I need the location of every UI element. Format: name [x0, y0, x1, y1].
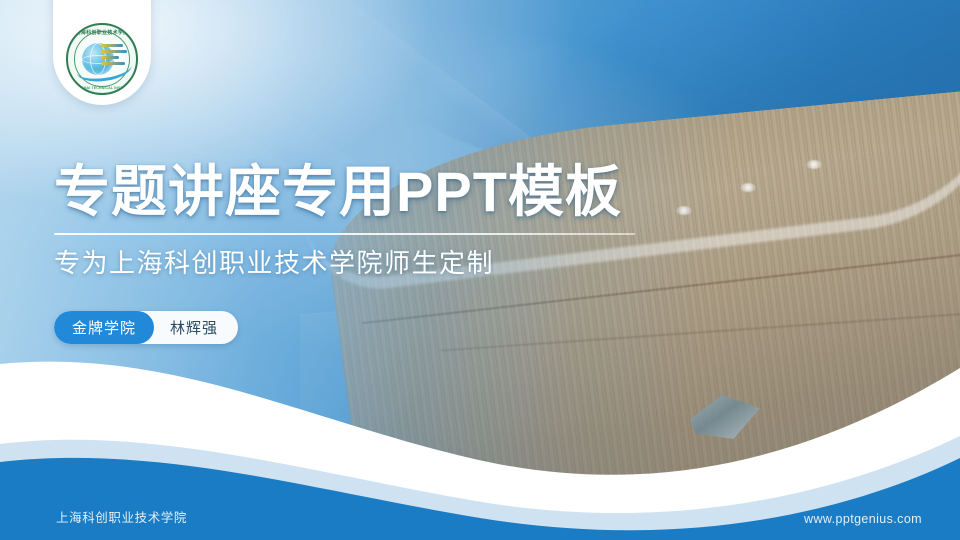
emblem-bottom-text: SHANGHAI TECHNICAL INSTITUTE: [68, 86, 136, 90]
school-logo-badge[interactable]: 上海科创职业技术学院 SHANGHAI TECHNICAL INSTITUTE: [53, 0, 151, 105]
emblem-top-text: 上海科创职业技术学院: [68, 29, 136, 36]
school-emblem-icon: 上海科创职业技术学院 SHANGHAI TECHNICAL INSTITUTE: [66, 23, 138, 95]
page-title: 专题讲座专用PPT模板: [54, 163, 622, 222]
title-divider: [54, 233, 635, 235]
footer-school-name: 上海科创职业技术学院: [56, 507, 187, 526]
presentation-slide: 上海科创职业技术学院 SHANGHAI TECHNICAL INSTITUTE …: [0, 0, 960, 540]
page-subtitle: 专为上海科创职业技术学院师生定制: [54, 246, 494, 281]
footer-website[interactable]: www.pptgenius.com: [804, 512, 922, 526]
